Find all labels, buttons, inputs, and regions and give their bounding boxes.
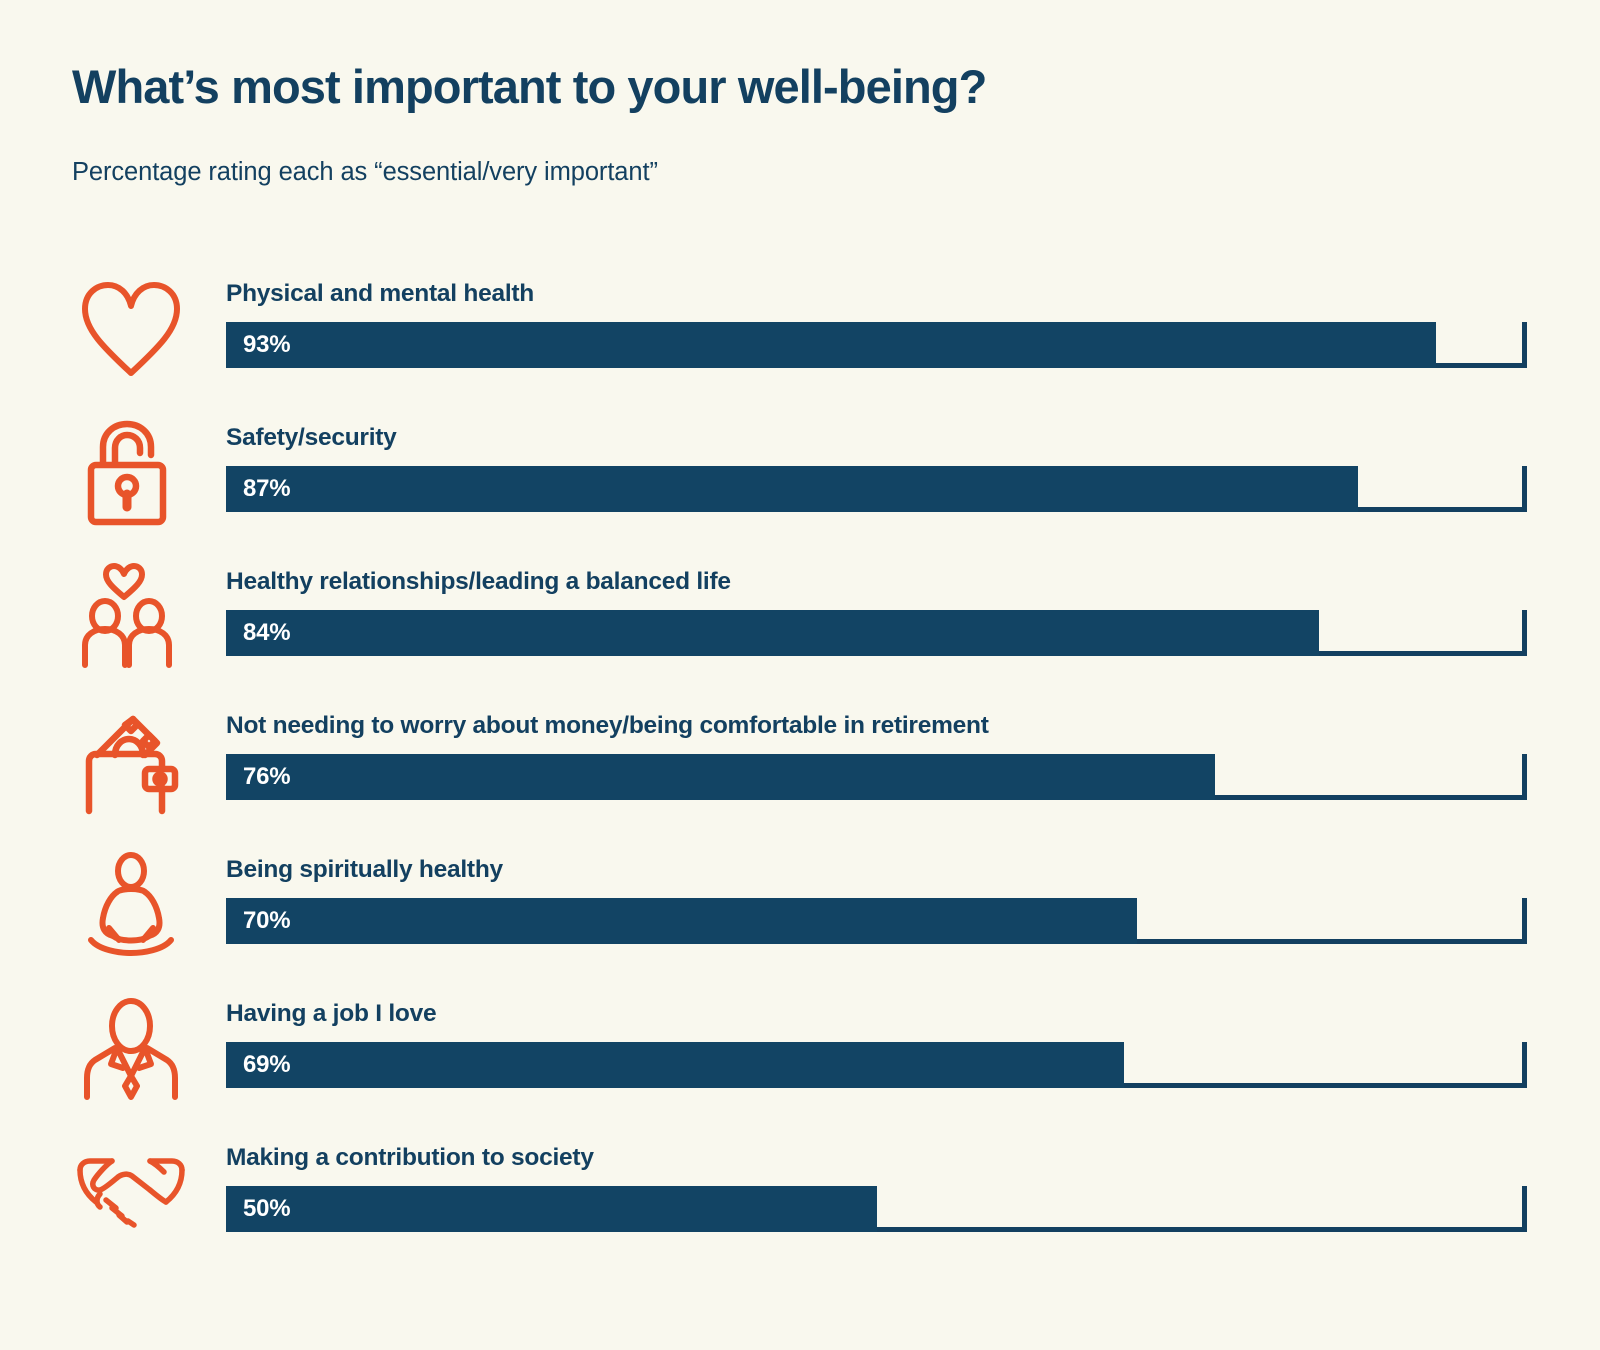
bar-fill: 84% [226,610,1319,656]
bar-area: 87% [226,466,1527,512]
bar-area: 84% [226,610,1527,656]
bar-area: 50% [226,1186,1527,1232]
bar-fill: 69% [226,1042,1124,1088]
bar-fill: 70% [226,898,1137,944]
bar-fill: 76% [226,754,1215,800]
bar-value-label: 76% [226,763,290,791]
chart-row: Healthy relationships/leading a balanced… [0,550,1600,694]
bar-fill: 87% [226,466,1358,512]
two-people-heart-icon [72,556,190,678]
open-padlock-icon [72,412,190,534]
bar-area: 70% [226,898,1527,944]
bar-fill: 50% [226,1186,877,1232]
chart-subtitle: Percentage rating each as “essential/ver… [72,158,1600,187]
bar-value-label: 84% [226,619,290,647]
bar-area: 69% [226,1042,1527,1088]
bar-area: 93% [226,322,1527,368]
business-person-icon [72,988,190,1110]
bar-chart: Physical and mental health 93% Safety/se [0,262,1600,1270]
bar-value-label: 69% [226,1051,290,1079]
chart-row: Safety/security 87% [0,406,1600,550]
chart-row-label: Physical and mental health [226,280,534,308]
bar-value-label: 50% [226,1195,290,1223]
bar-value-label: 93% [226,331,290,359]
bar-value-label: 70% [226,907,290,935]
chart-row: Not needing to worry about money/being c… [0,694,1600,838]
meditation-icon [72,844,190,966]
chart-row-label: Making a contribution to society [226,1144,594,1172]
chart-row-label: Safety/security [226,424,397,452]
page-title: What’s most important to your well-being… [72,62,1600,113]
wallet-icon [72,700,190,822]
chart-row-label: Having a job I love [226,1000,436,1028]
chart-row: Being spiritually healthy 70% [0,838,1600,982]
bar-area: 76% [226,754,1527,800]
bar-value-label: 87% [226,475,290,503]
chart-header: What’s most important to your well-being… [0,0,1600,187]
bar-fill: 93% [226,322,1436,368]
chart-row-label: Healthy relationships/leading a balanced… [226,568,731,596]
chart-row: Having a job I love 69% [0,982,1600,1126]
chart-row-label: Being spiritually healthy [226,856,503,884]
heart-icon [72,268,190,390]
chart-row-label: Not needing to worry about money/being c… [226,712,989,740]
chart-row: Making a contribution to society 50% [0,1126,1600,1270]
handshake-icon [72,1132,190,1254]
chart-page: What’s most important to your well-being… [0,0,1600,1350]
chart-row: Physical and mental health 93% [0,262,1600,406]
